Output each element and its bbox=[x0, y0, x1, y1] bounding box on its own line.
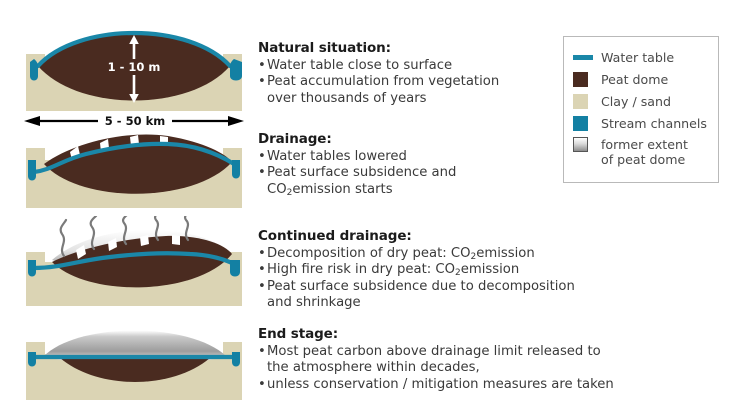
stream-channel-left bbox=[28, 260, 36, 277]
stage-bullet-continuation: and shrinkage bbox=[258, 295, 575, 311]
height-label: 1 - 10 m bbox=[108, 60, 161, 74]
legend-label: Clay / sand bbox=[601, 94, 671, 109]
formula-subscript: 2 bbox=[455, 265, 461, 281]
formula-pre: Decomposition of dry peat: CO bbox=[267, 246, 471, 262]
panel-2-graphic bbox=[18, 130, 250, 214]
bullet-marker: • bbox=[258, 74, 267, 90]
stream-channel-left bbox=[28, 352, 36, 367]
stage-bullet: • Water table close to surface bbox=[258, 58, 499, 74]
panel-continued-drainage bbox=[18, 216, 250, 310]
stage-bullet-continuation: the atmosphere within decades, bbox=[258, 360, 614, 376]
indent-spacer bbox=[258, 360, 267, 376]
bullet-marker: • bbox=[258, 344, 267, 360]
panel-drainage bbox=[18, 130, 250, 214]
bullet-text: over thousands of years bbox=[267, 91, 427, 107]
formula-post: emission bbox=[476, 246, 534, 262]
indent-spacer bbox=[258, 91, 267, 107]
former-extent-swatch-icon bbox=[573, 137, 593, 152]
legend-label: Peat dome bbox=[601, 72, 668, 87]
text-end-stage: End stage: • Most peat carbon above drai… bbox=[258, 326, 614, 393]
bullet-text: Peat accumulation from vegetation bbox=[267, 74, 499, 90]
text-continued-drainage: Continued drainage: • Decomposition of d… bbox=[258, 228, 575, 312]
stream-channel-right bbox=[230, 59, 242, 81]
bullet-text: Peat surface subsidence and bbox=[267, 165, 456, 181]
legend-item-stream-channels: Stream channels bbox=[573, 112, 718, 134]
stage-bullet: • Most peat carbon above drainage limit … bbox=[258, 344, 614, 360]
legend-label-line2: of peat dome bbox=[601, 152, 688, 167]
stage-title: Drainage: bbox=[258, 131, 456, 147]
stage-bullet: • Peat accumulation from vegetation bbox=[258, 74, 499, 90]
bullet-text: unless conservation / mitigation measure… bbox=[267, 377, 614, 393]
panel-4-graphic bbox=[18, 320, 250, 406]
stream-channels-swatch-icon bbox=[573, 116, 593, 131]
formula-subscript: 2 bbox=[471, 249, 477, 265]
panel-3-graphic bbox=[18, 216, 250, 310]
legend-item-peat-dome: Peat dome bbox=[573, 68, 718, 90]
bullet-marker: • bbox=[258, 58, 267, 74]
bullet-marker: • bbox=[258, 246, 267, 262]
stream-channel-right bbox=[232, 352, 240, 367]
bullet-marker: • bbox=[258, 377, 267, 393]
water-table-swatch-icon bbox=[573, 55, 593, 60]
panel-end-stage bbox=[18, 320, 250, 406]
stream-channel-left bbox=[28, 160, 36, 181]
legend-label: Water table bbox=[601, 50, 674, 65]
stage-bullet: • Water tables lowered bbox=[258, 149, 456, 165]
bullet-text: Water table close to surface bbox=[267, 58, 452, 74]
stream-channel-left bbox=[30, 59, 38, 81]
legend-box: Water table Peat dome Clay / sand Stream… bbox=[563, 36, 719, 183]
legend-item-water-table: Water table bbox=[573, 46, 718, 68]
diagram-canvas: 1 - 10 m 5 - 50 km bbox=[0, 0, 740, 412]
stream-channel-right bbox=[230, 260, 240, 277]
stage-title: Continued drainage: bbox=[258, 228, 575, 244]
legend-label-group: former extent of peat dome bbox=[601, 137, 688, 167]
stage-bullet-continuation: over thousands of years bbox=[258, 91, 499, 107]
bullet-text: the atmosphere within decades, bbox=[267, 360, 480, 376]
formula-post: emission bbox=[461, 262, 519, 278]
formula-subscript: 2 bbox=[287, 185, 293, 201]
legend-item-former-extent: former extent of peat dome bbox=[573, 134, 718, 171]
indent-spacer bbox=[258, 295, 267, 311]
bullet-marker: • bbox=[258, 279, 267, 295]
bullet-marker: • bbox=[258, 165, 267, 181]
indent-spacer bbox=[258, 182, 267, 198]
stage-bullet-continuation: CO2 emission starts bbox=[258, 182, 456, 198]
stream-channel-right bbox=[232, 160, 240, 179]
bullet-marker: • bbox=[258, 149, 267, 165]
formula-pre: High fire risk in dry peat: CO bbox=[267, 262, 455, 278]
bullet-marker: • bbox=[258, 262, 267, 278]
formula-pre: CO bbox=[267, 182, 287, 198]
text-natural-situation: Natural situation: • Water table close t… bbox=[258, 40, 499, 107]
text-drainage: Drainage: • Water tables lowered • Peat … bbox=[258, 131, 456, 198]
panel-natural-situation: 1 - 10 m 5 - 50 km bbox=[18, 26, 250, 138]
legend-label: former extent bbox=[601, 137, 688, 152]
bullet-text: Most peat carbon above drainage limit re… bbox=[267, 344, 601, 360]
panel-1-graphic: 1 - 10 m 5 - 50 km bbox=[18, 26, 250, 138]
bullet-text: and shrinkage bbox=[267, 295, 361, 311]
stage-bullet: • Decomposition of dry peat: CO2 emissio… bbox=[258, 246, 575, 262]
legend-item-clay-sand: Clay / sand bbox=[573, 90, 718, 112]
stage-title: Natural situation: bbox=[258, 40, 499, 56]
stage-bullet: • unless conservation / mitigation measu… bbox=[258, 377, 614, 393]
stage-title: End stage: bbox=[258, 326, 614, 342]
bullet-text: Peat surface subsidence due to decomposi… bbox=[267, 279, 575, 295]
formula-post: emission starts bbox=[292, 182, 392, 198]
peat-dome-swatch-icon bbox=[573, 72, 593, 87]
stage-bullet: • Peat surface subsidence and bbox=[258, 165, 456, 181]
bullet-text: Water tables lowered bbox=[267, 149, 407, 165]
stage-bullet: • Peat surface subsidence due to decompo… bbox=[258, 279, 575, 295]
clay-sand-swatch-icon bbox=[573, 94, 593, 109]
width-label: 5 - 50 km bbox=[105, 114, 165, 128]
legend-label: Stream channels bbox=[601, 116, 707, 131]
stage-bullet: • High fire risk in dry peat: CO2 emissi… bbox=[258, 262, 575, 278]
